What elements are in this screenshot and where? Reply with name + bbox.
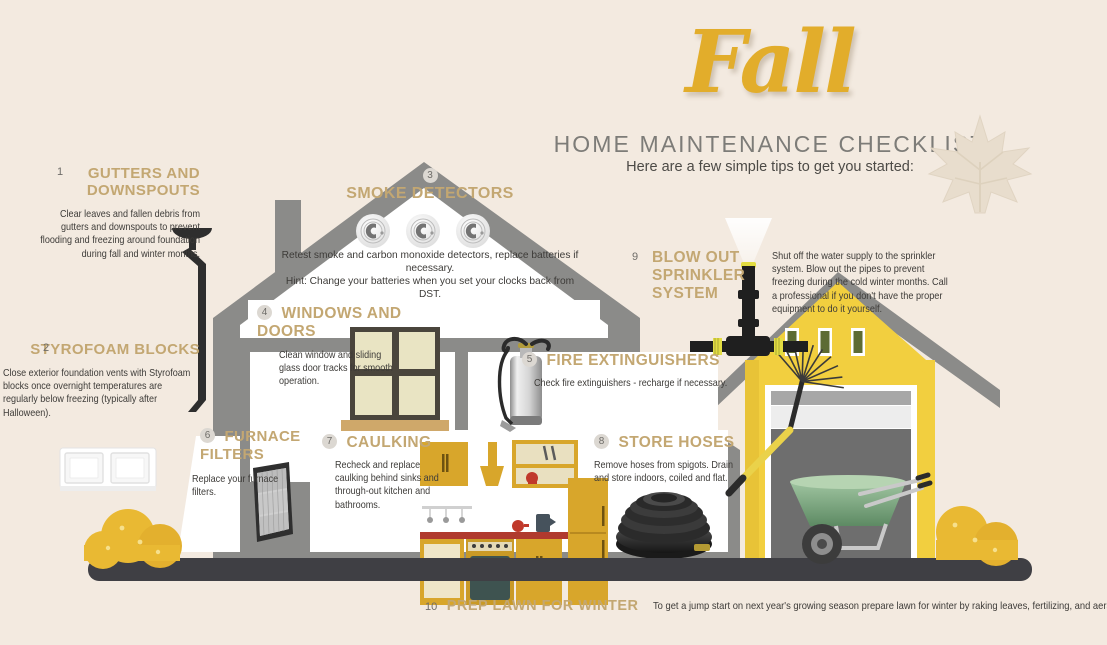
item-heading: SMOKE DETECTORS — [346, 185, 514, 202]
item-heading: WINDOWS AND DOORS — [257, 305, 402, 340]
item-caulking: 7 CAULKING Recheck and replace caulking … — [322, 434, 452, 512]
item-number: 4 — [257, 305, 272, 320]
item-blow-out-sprinkler-system: 9 BLOW OUT SPRINKLER SYSTEM — [632, 249, 752, 303]
item-number: 6 — [200, 428, 215, 443]
item-body: Clean window and sliding glass door trac… — [279, 349, 393, 389]
item-gutters-and-downspouts: 1 GUTTERS AND DOWNSPOUTS Clear leaves an… — [40, 165, 200, 261]
item-store-hoses: 8 STORE HOSES Remove hoses from spigots.… — [594, 434, 744, 485]
item-smoke-detectors: 3 SMOKE DETECTORS — [300, 168, 560, 203]
item-number: 8 — [594, 434, 609, 449]
page-title-script: Fall — [640, 8, 900, 118]
item-heading: FURNACE FILTERS — [200, 428, 301, 463]
item-body-hint: Hint: Change your batteries when you set… — [275, 275, 585, 301]
item-number: 1 — [57, 166, 63, 178]
item-body: Retest smoke and carbon monoxide detecto… — [275, 249, 585, 275]
item-fire-extinguishers: 5 FIRE EXTINGUISHERS Check fire extingui… — [522, 352, 722, 390]
item-body: Replace your furnace filters. — [192, 473, 293, 499]
sprinkler-body: Shut off the water supply to the sprinkl… — [772, 250, 952, 316]
item-heading: CAULKING — [346, 434, 431, 451]
item-heading: FIRE EXTINGUISHERS — [546, 352, 719, 369]
item-prep-lawn-for-winter: 10 PREP LAWN FOR WINTER To get a jump st… — [425, 597, 1065, 615]
item-number: 5 — [522, 352, 537, 367]
item-body: Recheck and replace caulking behind sink… — [335, 459, 449, 512]
item-number: 9 — [632, 251, 638, 263]
item-heading: PREP LAWN FOR WINTER — [447, 598, 639, 614]
item-body: Clear leaves and fallen debris from gutt… — [40, 208, 200, 261]
infographic-root: Fall HOME MAINTENANCE CHECKLIST Here are… — [0, 0, 1107, 645]
item-number: 10 — [425, 601, 437, 613]
item-furnace-filters: 6 FURNACE FILTERS Replace your furnace f… — [200, 428, 320, 499]
item-body: To get a jump start on next year's growi… — [653, 600, 1107, 613]
item-number: 2 — [43, 342, 49, 354]
smoke-detectors-caption: Retest smoke and carbon monoxide detecto… — [275, 249, 585, 301]
item-styrofoam-blocks: 2 STYROFOAM BLOCKS Close exterior founda… — [20, 341, 200, 420]
item-body: Close exterior foundation vents with Sty… — [3, 367, 191, 420]
item-windows-and-doors: 4 WINDOWS AND DOORS Clean window and sli… — [257, 305, 457, 389]
item-number: 7 — [322, 434, 337, 449]
item-number: 3 — [423, 168, 438, 183]
ground-bar-icon — [88, 558, 1032, 581]
item-heading: BLOW OUT SPRINKLER SYSTEM — [652, 249, 752, 303]
item-heading: STORE HOSES — [618, 434, 734, 451]
item-body: Check fire extinguishers - recharge if n… — [534, 377, 736, 390]
item-heading: GUTTERS AND DOWNSPOUTS — [40, 165, 200, 199]
styrofoam-blocks-icon — [60, 448, 156, 491]
smoke-detector-icon — [356, 214, 490, 248]
item-body: Remove hoses from spigots. Drain and sto… — [594, 459, 735, 485]
